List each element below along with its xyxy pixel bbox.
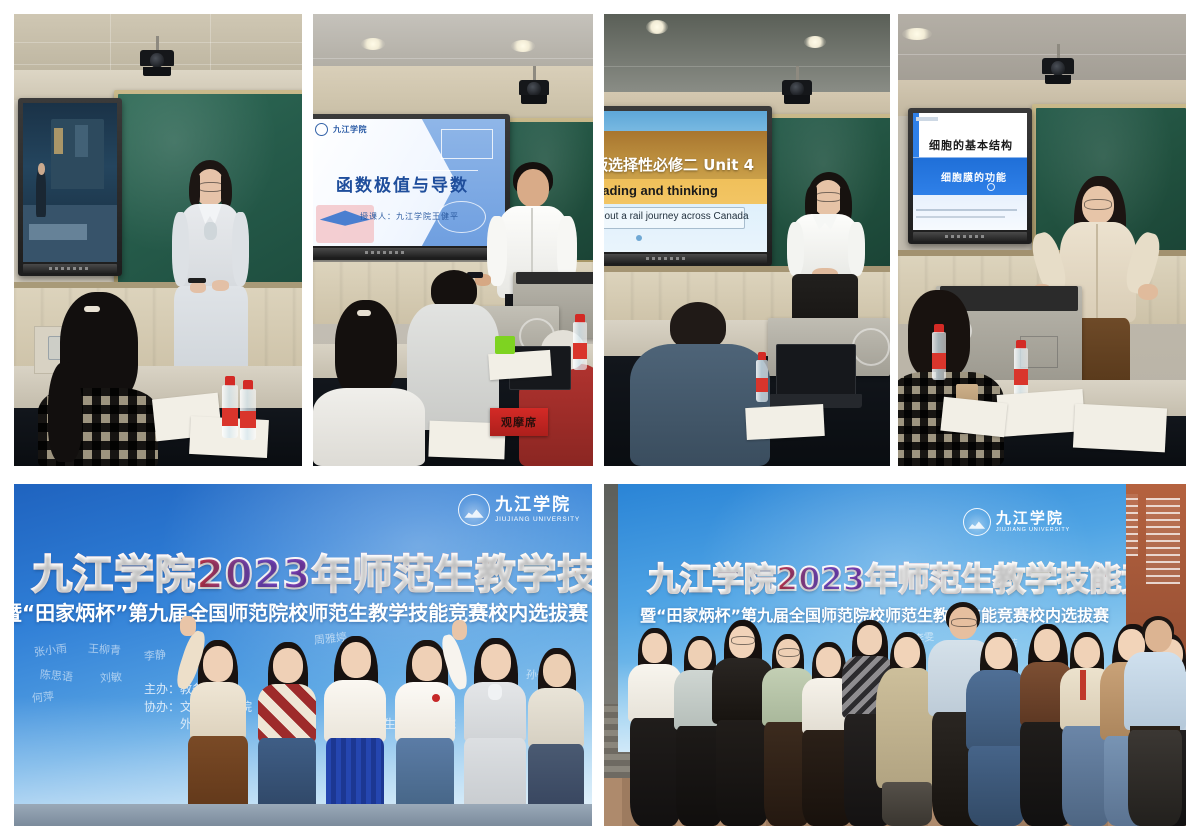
board-ledge	[14, 282, 302, 288]
head	[341, 642, 371, 678]
hair-side	[189, 174, 200, 206]
water-bottle	[1012, 340, 1030, 396]
slide-biology: 细胞的基本结构 细胞膜的功能	[913, 113, 1027, 230]
head	[688, 640, 712, 669]
observer-foreground	[38, 292, 158, 466]
trousers-grey	[882, 782, 932, 826]
slide-line-2: 细胞膜的功能	[941, 169, 1007, 184]
camera-lens	[790, 82, 803, 96]
bottle-label	[932, 353, 946, 369]
bottle-label	[1014, 369, 1028, 385]
arm-right	[232, 212, 249, 286]
torso-white-blouse	[324, 680, 386, 742]
ceiling-light	[804, 36, 826, 48]
display-screen[interactable]: 细胞的基本结构 细胞膜的功能	[908, 108, 1032, 244]
university-seal-icon	[315, 123, 328, 136]
torso	[313, 388, 425, 466]
camera-mount	[143, 67, 172, 76]
banner-subtitle: 暨“田家炳杯”第九届全国师范院校师范生教学技能竞赛校内选拔赛	[14, 597, 588, 626]
slide-subtitle: 授课人：九江学院王健平	[360, 211, 459, 222]
slide-logo-text: 九江学院	[333, 126, 367, 134]
camera-mount	[1045, 75, 1072, 84]
screen-led-indicators	[945, 235, 987, 238]
ceiling-light	[511, 40, 535, 52]
screen-led-indicators	[365, 251, 407, 254]
bow-tie	[204, 222, 217, 240]
arm-left	[787, 222, 804, 276]
wall-wood-upper	[313, 66, 593, 118]
camera-lens	[1051, 61, 1065, 76]
water-bottle	[220, 376, 240, 438]
badge-red	[432, 694, 440, 702]
teacher-presenter	[790, 172, 866, 332]
screen-control-strip[interactable]	[23, 264, 117, 273]
judge-laptop-screen	[776, 344, 856, 398]
camera-lens	[150, 53, 165, 68]
hair-clip	[357, 310, 371, 316]
screen-control-strip[interactable]	[313, 248, 505, 257]
slide-line-3: bout a rail journey across Canada	[604, 211, 749, 222]
slide-english: 版选择性必修二 Unit 4 eading and thinking bout …	[604, 111, 767, 252]
hair-clip	[84, 306, 100, 312]
building-windows	[1146, 498, 1180, 584]
torso-blue-shirt	[630, 344, 770, 466]
ceiling-seam	[898, 54, 1186, 55]
screen-surface	[23, 103, 117, 262]
green-cup	[495, 336, 515, 354]
lectern-monitor	[516, 272, 593, 284]
slide-math: 九江学院 函数极值与导数 授课人：九江学院王健平	[313, 119, 505, 246]
head	[543, 654, 571, 687]
scoring-sheet	[488, 350, 552, 380]
torso-white-shirt	[395, 682, 455, 742]
display-screen[interactable]: 版选择性必修二 Unit 4 eading and thinking bout …	[604, 106, 772, 266]
glasses	[951, 618, 977, 627]
contestant	[320, 632, 392, 826]
screen-surface: 九江学院 函数极值与导数 授课人：九江学院王健平	[313, 119, 505, 246]
scoring-sheet	[745, 404, 825, 440]
banner-main-title: 九江学院2023年师范生教学技能竞赛	[32, 542, 592, 600]
arm-left	[172, 212, 189, 286]
camera-mount	[784, 95, 809, 104]
ceiling-camera	[1042, 58, 1074, 84]
ceiling-light	[361, 38, 385, 50]
ceiling-seam	[110, 14, 111, 76]
ceiling-light	[902, 28, 932, 40]
bottle-label	[756, 378, 769, 392]
display-screen[interactable]: 九江学院 函数极值与导数 授课人：九江学院王健平	[313, 114, 510, 260]
photo-group-five-contestants[interactable]: 九江学院 JIUJIANG UNIVERSITY 九江学院2023年师范生教学技…	[14, 484, 592, 826]
glasses	[815, 192, 842, 202]
ceiling-camera	[782, 80, 812, 104]
head	[412, 646, 442, 681]
head	[894, 637, 920, 668]
screen-led-indicators	[49, 267, 91, 270]
logo-chinese-name: 九江学院	[996, 511, 1070, 526]
ceiling-camera	[519, 80, 549, 104]
head	[642, 633, 667, 663]
screen-surface: 版选择性必修二 Unit 4 eading and thinking bout …	[604, 111, 767, 252]
contestant	[390, 636, 462, 826]
remote-pointer	[188, 278, 206, 283]
water-bottle	[238, 380, 258, 440]
head	[481, 644, 511, 680]
university-seal-icon	[963, 508, 991, 536]
ceiling-seam	[604, 66, 890, 67]
bow-tie	[488, 684, 502, 700]
head	[273, 648, 303, 683]
torso-argyle-vest	[258, 684, 316, 742]
ceiling-camera	[140, 50, 174, 76]
slide-title: 函数极值与导数	[336, 171, 469, 196]
banner-main-title: 九江学院2023年师范生教学技能竞赛	[648, 554, 1126, 600]
screen-control-strip[interactable]	[604, 254, 767, 263]
hand-right	[1138, 284, 1158, 300]
head	[203, 646, 233, 682]
judge-foreground	[898, 290, 1000, 466]
camera-lens	[527, 82, 540, 96]
bottle-label	[222, 408, 238, 425]
hair-strand	[48, 362, 82, 462]
scoring-sheet	[997, 389, 1086, 437]
ceiling	[313, 14, 593, 72]
hair-side	[221, 174, 232, 208]
scoring-sheet	[1073, 404, 1167, 453]
contestant-partial	[526, 646, 586, 826]
placard-text: 观摩席	[501, 414, 537, 430]
water-bottle	[571, 314, 589, 370]
contestant	[460, 634, 532, 826]
head	[1074, 637, 1100, 668]
ceiling-light	[646, 20, 668, 34]
head	[1145, 620, 1172, 652]
display-screen[interactable]	[18, 98, 122, 276]
logo-english-name: JIUJIANG UNIVERSITY	[996, 528, 1070, 534]
bottle-cap	[758, 352, 766, 360]
glasses	[778, 648, 800, 657]
glasses	[1084, 199, 1112, 210]
torso	[528, 688, 584, 748]
screen-surface: 细胞的基本结构 细胞膜的功能	[913, 113, 1027, 230]
logo-english-name: JIUJIANG UNIVERSITY	[495, 517, 580, 524]
slide-logo: 九江学院	[315, 123, 367, 136]
organizer-label: 主办：	[144, 682, 180, 696]
observer-seat-placard: 观摩席	[490, 408, 548, 436]
slide-line-1: 细胞的基本结构	[929, 137, 1013, 153]
hand-peace-sign	[180, 616, 196, 636]
contestant	[184, 634, 252, 826]
scoring-sheet	[940, 397, 1007, 438]
camera-mount	[521, 95, 546, 104]
photo-classroom-chinese-lesson[interactable]	[14, 14, 302, 466]
jacket-opening	[1096, 224, 1098, 318]
torso-light-blue-shirt	[1124, 652, 1186, 730]
backdrop-base-ground	[14, 804, 592, 826]
ceiling-seam	[210, 14, 211, 76]
bottle-label	[240, 411, 256, 428]
photo-gallery: 九江学院 函数极值与导数 授课人：九江学院王健平	[0, 0, 1200, 840]
slide-line-2: eading and thinking	[604, 183, 718, 198]
torso-cream-top	[190, 682, 246, 740]
hand-left	[190, 282, 206, 293]
university-logo: 九江学院 JIUJIANG UNIVERSITY	[458, 494, 580, 526]
trousers-dark	[1128, 730, 1182, 826]
head	[985, 637, 1012, 669]
contestant	[252, 638, 322, 826]
university-logo: 九江学院 JIUJIANG UNIVERSITY	[963, 508, 1070, 536]
university-seal-emblem	[852, 328, 890, 366]
slide-line-1: 版选择性必修二 Unit 4	[604, 154, 754, 175]
water-bottle	[930, 324, 948, 380]
university-seal-icon	[458, 494, 490, 526]
screen-control-strip[interactable]	[913, 232, 1027, 241]
head	[816, 647, 841, 677]
group-member-teacher	[1124, 616, 1186, 826]
bottle-label	[573, 343, 587, 359]
head	[517, 169, 549, 207]
glasses	[731, 636, 755, 645]
photo-group-all-contestants[interactable]: 九江学院 JIUJIANG UNIVERSITY 九江学院2023年师范生教学技…	[604, 484, 1186, 826]
screen-video-snow-scene	[23, 103, 117, 262]
ceiling-seam	[313, 58, 593, 59]
hair	[670, 302, 726, 350]
audience-member	[321, 300, 417, 466]
water-bottle	[754, 352, 770, 402]
screen-led-indicators	[646, 257, 688, 260]
photo-classroom-math-lesson[interactable]: 九江学院 函数极值与导数 授课人：九江学院王健平	[313, 14, 593, 466]
judge-foreground	[630, 302, 770, 466]
lanyard	[1080, 670, 1086, 700]
photo-classroom-biology-lesson[interactable]: 细胞的基本结构 细胞膜的功能	[898, 14, 1186, 466]
head	[1034, 629, 1060, 661]
arm-right	[848, 222, 865, 276]
co-organizer-label: 协办：	[144, 700, 180, 714]
hand-right	[212, 280, 229, 291]
logo-chinese-name: 九江学院	[495, 497, 580, 514]
photo-classroom-english-lesson[interactable]: 版选择性必修二 Unit 4 eading and thinking bout …	[604, 14, 890, 466]
